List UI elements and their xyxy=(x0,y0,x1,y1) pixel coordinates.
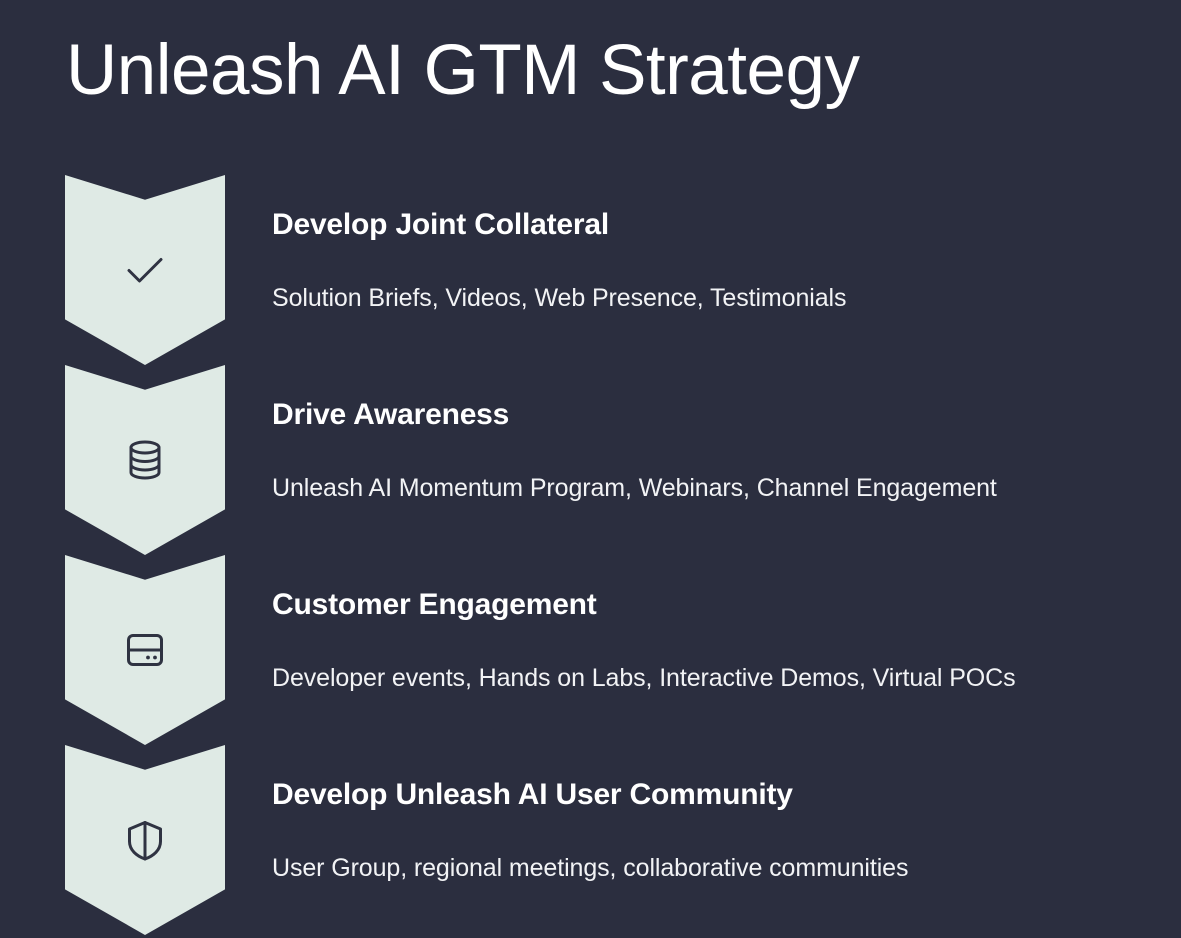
step-detail: Developer events, Hands on Labs, Interac… xyxy=(272,663,1152,693)
chevron-step-1[interactable] xyxy=(65,175,225,365)
chevron-rail xyxy=(65,175,225,935)
steps-text-column: Develop Joint Collateral Solution Briefs… xyxy=(272,0,1152,938)
step-heading: Customer Engagement xyxy=(272,588,1152,621)
step-item-2: Drive Awareness Unleash AI Momentum Prog… xyxy=(272,398,1152,503)
chevron-step-4[interactable] xyxy=(65,745,225,935)
step-detail: Unleash AI Momentum Program, Webinars, C… xyxy=(272,473,1152,503)
step-heading: Drive Awareness xyxy=(272,398,1152,431)
step-heading: Develop Joint Collateral xyxy=(272,208,1152,241)
step-detail: Solution Briefs, Videos, Web Presence, T… xyxy=(272,283,1152,313)
step-item-4: Develop Unleash AI User Community User G… xyxy=(272,778,1152,883)
database-icon xyxy=(118,433,172,487)
shield-icon xyxy=(118,813,172,867)
step-detail: User Group, regional meetings, collabora… xyxy=(272,853,1152,883)
chevron-step-2[interactable] xyxy=(65,365,225,555)
step-item-3: Customer Engagement Developer events, Ha… xyxy=(272,588,1152,693)
server-icon xyxy=(118,623,172,677)
slide-canvas: Unleash AI GTM Strategy xyxy=(0,0,1181,938)
step-heading: Develop Unleash AI User Community xyxy=(272,778,1152,811)
step-item-1: Develop Joint Collateral Solution Briefs… xyxy=(272,208,1152,313)
check-icon xyxy=(118,243,172,297)
chevron-step-3[interactable] xyxy=(65,555,225,745)
